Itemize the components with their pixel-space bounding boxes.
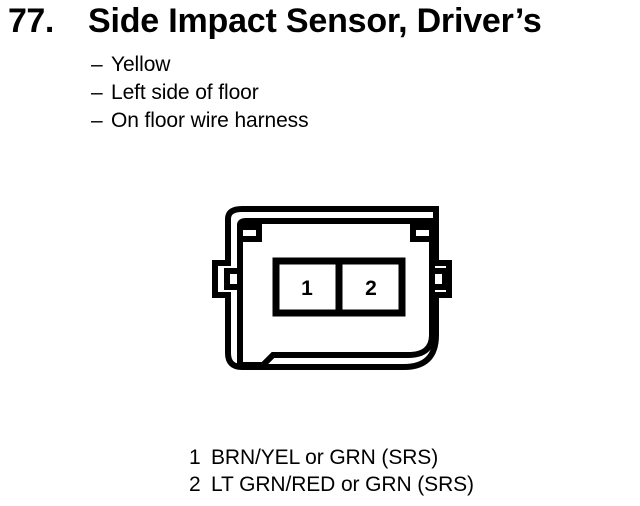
- dash-bullet-icon: –: [91, 79, 111, 107]
- cavity-block: 1 2: [276, 261, 402, 313]
- legend-pin-number: 1: [189, 444, 211, 471]
- cavity-number-1: 1: [301, 277, 313, 300]
- spec-item-label: Left side of floor: [111, 81, 259, 104]
- legend-pin-number: 2: [189, 471, 211, 498]
- dash-bullet-icon: –: [91, 51, 111, 79]
- spec-item-label: On floor wire harness: [111, 109, 308, 132]
- connector-diagram: 1 2: [195, 195, 460, 390]
- page-header: 77. Side Impact Sensor, Driver’s: [0, 0, 640, 44]
- legend-row: 1BRN/YEL or GRN (SRS): [189, 444, 589, 471]
- spec-item-harness: –On floor wire harness: [91, 107, 511, 135]
- spec-item-location: –Left side of floor: [91, 79, 511, 107]
- pin-legend: 1BRN/YEL or GRN (SRS) 2LT GRN/RED or GRN…: [189, 444, 589, 498]
- legend-wire-description: LT GRN/RED or GRN (SRS): [211, 473, 474, 496]
- item-number: 77.: [8, 0, 54, 43]
- page-title: Side Impact Sensor, Driver’s: [88, 0, 542, 43]
- spec-item-label: Yellow: [111, 53, 170, 76]
- spec-item-color: –Yellow: [91, 51, 511, 79]
- spec-list: –Yellow –Left side of floor –On floor wi…: [91, 51, 511, 135]
- connector-illustration: 1 2: [195, 195, 460, 390]
- legend-row: 2LT GRN/RED or GRN (SRS): [189, 471, 589, 498]
- dash-bullet-icon: –: [91, 107, 111, 135]
- legend-wire-description: BRN/YEL or GRN (SRS): [211, 446, 438, 469]
- cavity-number-2: 2: [365, 277, 377, 300]
